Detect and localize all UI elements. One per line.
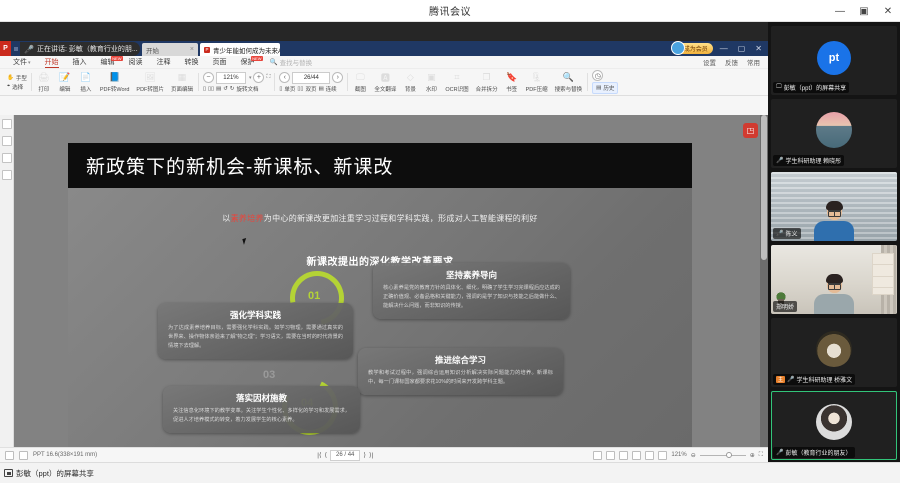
ocr-button[interactable]: ⌗ OCR识图 [444, 71, 469, 93]
dual-page-label[interactable]: 双页 [305, 85, 316, 93]
hand-tool-label: 手型 [16, 74, 27, 82]
menu-item-page[interactable]: 页面 [206, 57, 234, 67]
close-icon[interactable]: ✕ [876, 0, 900, 22]
background-icon: ◇ [404, 71, 417, 84]
document-viewport[interactable]: ◳ 新政策下的新机会-新课标、新课改 以素养培养为中心的新课改更加注重学习过程和… [0, 115, 768, 460]
menu-label: 开始 [45, 59, 59, 66]
mic-active-icon: 🎤 [776, 449, 783, 456]
subtitle-after: 为中心的新课改更加注重学习过程和学科实践，形成对人工智能课程的利好 [264, 214, 538, 223]
slide-card-04: 落实因材施教 关注信息化环境下的教学变革。关注学生个性化、多样化的学习和发展需求… [163, 386, 360, 433]
slide-subtitle: 以素养培养为中心的新课改更加注重学习过程和学科实践，形成对人工智能课程的利好 [68, 213, 692, 224]
edit-button[interactable]: 📝 编辑 [57, 71, 73, 93]
mic-icon: 🎤 [787, 376, 794, 383]
watermark-icon: ▣ [425, 71, 438, 84]
status-page-nav: |⟨ ⟨ 26 / 44 ⟩ ⟩| [317, 450, 373, 461]
history-group: ◷ ▤ 历史 [592, 70, 618, 94]
view-facing-icon[interactable] [606, 451, 615, 460]
screenshot-label: 截图 [355, 85, 366, 93]
head [827, 203, 842, 220]
history-label: 历史 [603, 84, 614, 92]
hair [826, 274, 843, 283]
shelf [872, 253, 894, 295]
wps-window: P 🎤 正在讲话: 彭敏（教育行业的朋... 开始 × P 青少年能如何成为未来… [0, 41, 768, 462]
meeting-bottom-bar: 彭敏（ppt）的屏幕共享 [0, 462, 900, 483]
participant-tile-5[interactable]: 🎤 彭敏（教育行业的朋友） [771, 391, 897, 460]
wps-maximize-icon[interactable]: ▢ [735, 44, 749, 53]
wps-minimize-icon[interactable]: — [717, 44, 731, 53]
document-info: PPT 16.6(338×191 mm) [33, 452, 97, 458]
card-body: 核心素养是党的教育方针的具体化、细化，明确了学生学习完课程后应达成的正确价值观、… [383, 284, 560, 311]
edit-page-icon: 📝 [58, 71, 71, 84]
background-label: 背景 [405, 85, 416, 93]
mic-muted-icon: 🎤 [776, 157, 783, 164]
toolbar-group-page: ‹ 26/44 › ▯ 单页 ▯▯ 双页 ▤ 连续 [275, 69, 347, 96]
compress-icon: 🗜 [530, 71, 543, 84]
participant-namebar: 🖵 彭敏（ppt）的屏幕共享 [773, 82, 849, 93]
card-title: 坚持素养导向 [383, 269, 560, 281]
page-layout-icon[interactable] [5, 451, 14, 460]
screen-share-icon: 🖵 [776, 84, 782, 91]
menu-label: 阅读 [129, 59, 143, 66]
step-number-01: 01 [308, 290, 320, 302]
watermark-button[interactable]: ▣ 水印 [423, 71, 439, 93]
ocr-label: OCR识图 [445, 85, 468, 93]
hair [826, 201, 843, 210]
view-tools-row: ▯ 单页 ▯▯ 双页 ▤ 连续 [279, 85, 343, 93]
avatar-initials: pt [829, 52, 839, 64]
participant-namebar: 主 🎤 学生科研助理 桥雅文 [773, 374, 855, 385]
menu-label: 页面 [213, 59, 227, 66]
select-tool-label: 选择 [12, 83, 23, 91]
wps-tabbar: P 🎤 正在讲话: 彭敏（教育行业的朋... 开始 × P 青少年能如何成为未来… [0, 41, 768, 56]
subtitle-before: 以 [222, 214, 230, 223]
menu-row-right: 设置 反馈 常用 [703, 57, 768, 67]
background-button[interactable]: ◇ 背景 [402, 71, 418, 93]
translate-label: 全文翻译 [374, 85, 396, 93]
pdf-to-image-icon: 🖼 [144, 71, 157, 84]
participant-namebar: 郑明娇 [773, 301, 797, 312]
prev-page-icon[interactable]: ⟨ [325, 451, 328, 459]
zoom-slider[interactable] [700, 455, 746, 456]
screenshot-button[interactable]: 🖵 截图 [352, 71, 368, 93]
view-thumbnail-icon[interactable] [645, 451, 654, 460]
bookmark-icon: 🔖 [505, 71, 518, 84]
avatar: pt [817, 41, 851, 75]
slide-card-02: 强化学科实践 为了达成素养培养目标，需要强化学科实践。如学习物理，需要通过真实的… [158, 303, 353, 359]
vertical-scroll-thumb[interactable] [761, 115, 767, 260]
menu-item-read[interactable]: 阅读 [122, 57, 150, 67]
compress-button[interactable]: 🗜 PDF压缩 [525, 71, 549, 93]
pin-icon[interactable]: ◳ [743, 123, 758, 138]
chevron-down-icon[interactable]: ▾ [249, 75, 252, 81]
view-single-icon[interactable] [593, 451, 602, 460]
print-label: 打印 [38, 85, 49, 93]
mic-muted-icon: 🎤 [776, 230, 783, 237]
participant-namebar: 🎤 陈义 [773, 228, 801, 239]
ocr-icon: ⌗ [450, 71, 463, 84]
insert-label: 插入 [80, 85, 91, 93]
menu-item-file[interactable]: 文件▾ [6, 57, 38, 67]
first-page-icon[interactable]: |⟨ [317, 451, 321, 459]
last-page-icon[interactable]: ⟩| [369, 451, 373, 459]
glasses-icon [828, 283, 841, 287]
continuous-page-icon[interactable]: ▤ [216, 86, 221, 92]
hand-icon: ✋ [7, 75, 14, 81]
compress-label: PDF压缩 [526, 85, 548, 93]
edit-label: 编辑 [59, 85, 70, 93]
rotate-right-icon[interactable]: ↻ [230, 86, 235, 92]
single-page-label[interactable]: 单页 [284, 85, 295, 93]
pdf-to-image-label: PDF转图片 [136, 85, 164, 93]
participant-tile-2[interactable]: 🎤 陈义 [771, 172, 897, 241]
slide-title: 新政策下的新机会-新课标、新课改 [86, 152, 393, 179]
page-and-view: ‹ 26/44 › ▯ 单页 ▯▯ 双页 ▤ 连续 [279, 72, 343, 93]
view-fitwidth-icon[interactable] [632, 451, 641, 460]
close-tab-icon[interactable]: × [190, 46, 194, 53]
favorites-link[interactable]: 常用 [747, 57, 760, 67]
merge-split-label: 合并拆分 [476, 85, 498, 93]
bookmarks-panel-icon[interactable] [2, 136, 12, 146]
feedback-link[interactable]: 反馈 [725, 57, 738, 67]
view-continuous-icon[interactable] [619, 451, 628, 460]
menu-search-box[interactable]: 🔍 查找与替换 [270, 57, 313, 67]
mouse-cursor [242, 237, 250, 245]
avatar [816, 404, 852, 440]
toolbar-group-history: ◷ ▤ 历史 [588, 69, 622, 96]
slide-card-01: 坚持素养导向 核心素养是党的教育方针的具体化、细化，明确了学生学习完课程后应达成… [373, 263, 570, 319]
screen-root: 腾讯会议 — ▣ ✕ P 🎤 正在讲话: 彭敏（教育行业的朋... 开始 × [0, 0, 900, 483]
participant-sidebar: pt 🖵 彭敏（ppt）的屏幕共享 🎤 学生科研助理 赖晓彤 [768, 22, 900, 462]
host-badge: 主 [776, 376, 785, 383]
card-body: 为了达成素养培养目标，需要强化学科实践。如学习物理，需要通过真实的世界来、操作物… [168, 324, 343, 351]
next-page-icon[interactable]: ⟩ [363, 451, 366, 459]
wps-tabbar-right: 成为会员 — ▢ ✕ [674, 41, 768, 56]
dual-page-icon[interactable]: ▯▯ [297, 86, 303, 92]
page-field[interactable]: 26/44 [292, 72, 330, 84]
card-title: 推进综合学习 [368, 354, 553, 366]
merge-split-icon: ❐ [480, 71, 493, 84]
current-page-indicator[interactable]: 26 / 44 [330, 450, 360, 461]
next-page-icon[interactable]: › [332, 72, 343, 83]
torso [814, 221, 854, 241]
vertical-scrollbar[interactable] [760, 115, 768, 460]
avatar [816, 331, 852, 367]
torso [814, 294, 854, 314]
outline-panel-icon[interactable] [2, 153, 12, 163]
toolbar-group-main: 🖨 打印 📝 编辑 📄 插入 📘 PDF转Word [32, 69, 198, 96]
annotations-panel-icon[interactable] [2, 170, 12, 180]
card-title: 强化学科实践 [168, 309, 343, 321]
print-button[interactable]: 🖨 打印 [36, 71, 52, 93]
menu-label: 注释 [157, 59, 171, 66]
pdf-to-word-icon: 📘 [108, 71, 121, 84]
speaking-indicator-chip: 🎤 正在讲话: 彭敏（教育行业的朋... [20, 42, 140, 56]
translate-icon: 🅰 [379, 71, 392, 84]
printer-icon: 🖨 [37, 71, 50, 84]
wps-toolbar: ✋ 手型 ⌖ 选择 🖨 打印 [0, 69, 768, 96]
search-icon: 🔍 [270, 58, 278, 66]
mic-icon: 🎤 [24, 45, 34, 54]
menu-label: 转换 [185, 59, 199, 66]
rotate-doc-label[interactable]: 旋转文档 [236, 85, 258, 93]
wps-tab-label: 青少年能如何成为未来AI主... [213, 45, 280, 55]
wps-tab-0[interactable]: 开始 × [142, 43, 198, 56]
settings-link[interactable]: 设置 [703, 57, 716, 67]
clock-icon: ◷ [592, 70, 603, 81]
viewer-side-rail [0, 115, 14, 460]
mode-toggles: ✋ 手型 ⌖ 选择 [7, 74, 27, 91]
zoom-out-icon[interactable]: ⊖ [691, 452, 696, 459]
wps-status-bar: PPT 16.6(338×191 mm) |⟨ ⟨ 26 / 44 ⟩ ⟩| [0, 447, 768, 462]
wps-menu-row: 文件▾ 开始 插入 编辑NEW 阅读 注释 转换 页面 保护NEW 🔍 查找与替… [0, 56, 768, 69]
slide-header: 新政策下的新机会-新课标、新课改 [68, 143, 692, 188]
shared-screen-area: P 🎤 正在讲话: 彭敏（教育行业的朋... 开始 × P 青少年能如何成为未来… [0, 22, 768, 462]
search-replace-button[interactable]: 🔍 搜索与替换 [554, 71, 584, 93]
participant-tile-0[interactable]: pt 🖵 彭敏（ppt）的屏幕共享 [771, 26, 897, 95]
participant-name: 学生科研助理 桥雅文 [797, 375, 853, 384]
wps-close-icon[interactable]: ✕ [752, 44, 765, 53]
fit-page-icon[interactable]: ⛶ [266, 74, 270, 81]
cursor-select-icon: ⌖ [7, 83, 10, 90]
menu-item-annotate[interactable]: 注释 [150, 57, 178, 67]
toolbar-group-mode: ✋ 手型 ⌖ 选择 [3, 69, 31, 96]
single-page-icon[interactable]: ▯ [279, 86, 282, 92]
watermark-label: 水印 [426, 85, 437, 93]
participant-name: 彭敏（ppt）的屏幕共享 [784, 83, 846, 92]
speaking-label: 正在讲话: 彭敏（教育行业的朋... [37, 44, 138, 54]
page-edit-label: 页面编辑 [171, 85, 193, 93]
slide-card-03: 推进综合学习 教学和考试过程中，强调综合运用知识分析解决实际问题能力的培养。新课… [358, 348, 563, 395]
card-body: 教学和考试过程中，强调综合运用知识分析解决实际问题能力的培养。新课标中，每一门课… [368, 369, 553, 387]
chevron-down-icon: ▾ [28, 60, 31, 66]
hand-tool[interactable]: ✋ 手型 [7, 74, 27, 82]
menu-search-placeholder: 查找与替换 [280, 57, 313, 67]
zoom-in-icon[interactable]: + [253, 72, 264, 83]
become-member-button[interactable]: 成为会员 [674, 43, 713, 54]
zoom-out-icon[interactable]: − [203, 72, 214, 83]
zoom-slider-thumb[interactable] [726, 452, 732, 458]
zoom-row: − 121% ▾ + ⛶ [203, 72, 270, 84]
card-title: 落实因材施教 [173, 392, 350, 404]
glasses-icon [828, 210, 841, 214]
maximize-icon[interactable]: ▣ [852, 0, 876, 22]
pdf-file-icon: P [204, 47, 210, 53]
history-icon: ▤ [596, 85, 601, 91]
pdf-to-word-label: PDF转Word [100, 85, 130, 93]
pdf-to-word-button[interactable]: 📘 PDF转Word [99, 71, 131, 93]
menu-item-edit[interactable]: 编辑NEW [94, 57, 122, 67]
view-mode-row: ▯ ▯▯ ▤ ↺ ↻ 旋转文档 [203, 85, 270, 93]
page-nav-group: |⟨ ⟨ 26 / 44 ⟩ ⟩| [317, 450, 373, 461]
thumbnails-icon[interactable] [2, 119, 12, 129]
menu-label: 文件 [13, 59, 27, 66]
minimize-icon[interactable]: — [828, 0, 852, 22]
merge-split-button[interactable]: ❐ 合并拆分 [475, 71, 499, 93]
page-navigation: ‹ 26/44 › [279, 72, 343, 84]
continuous-page-label[interactable]: 连续 [326, 85, 337, 93]
zoom-value[interactable]: 121% [216, 72, 246, 84]
page-edit-icon: ▦ [175, 71, 188, 84]
participant-tile-1[interactable]: 🎤 学生科研助理 赖晓彤 [771, 99, 897, 168]
participant-name: 学生科研助理 赖晓彤 [785, 156, 841, 165]
participant-name: 陈义 [785, 229, 797, 238]
pdf-to-image-button[interactable]: 🖼 PDF转图片 [135, 71, 165, 93]
head [827, 276, 842, 293]
history-button[interactable]: ▤ 历史 [592, 82, 618, 94]
prev-page-icon[interactable]: ‹ [279, 72, 290, 83]
rotate-left-icon[interactable]: ↺ [223, 86, 228, 92]
meeting-titlebar: 腾讯会议 — ▣ ✕ [0, 0, 900, 22]
zoom-and-view: − 121% ▾ + ⛶ ▯ ▯▯ ▤ ↺ ↻ 旋转文档 [203, 72, 270, 93]
become-member-label: 成为会员 [684, 44, 708, 53]
insert-page-icon: 📄 [79, 71, 92, 84]
menu-label: 插入 [73, 59, 87, 66]
status-zoom-value[interactable]: 121% [671, 452, 686, 458]
search-replace-label: 搜索与替换 [555, 85, 583, 93]
participant-tile-3[interactable]: 郑明娇 [771, 245, 897, 314]
single-page-icon[interactable]: ▯ [203, 86, 206, 92]
select-tool[interactable]: ⌖ 选择 [7, 83, 27, 91]
screen-share-label: 彭敏（ppt）的屏幕共享 [16, 468, 94, 479]
step-number-03: 03 [263, 369, 275, 381]
toolbar-group-tools: 🖵 截图 🅰 全文翻译 ◇ 背景 ▣ 水印 [348, 69, 587, 96]
continuous-page-icon[interactable]: ▤ [318, 86, 323, 92]
window-controls: — ▣ ✕ [828, 0, 900, 22]
screen-share-icon [4, 469, 13, 477]
insert-button[interactable]: 📄 插入 [78, 71, 94, 93]
person-silhouette [814, 276, 854, 314]
wps-tab-label: 开始 [146, 45, 159, 55]
screen-share-status: 彭敏（ppt）的屏幕共享 [4, 468, 94, 479]
dual-page-icon[interactable]: ▯▯ [208, 86, 214, 92]
participant-tile-4[interactable]: 主 🎤 学生科研助理 桥雅文 [771, 318, 897, 387]
history-clock[interactable]: ◷ [592, 70, 618, 81]
card-body: 关注信息化环境下的教学变革。关注学生个性化、多样化的学习和发展需求，促进人才培养… [173, 407, 350, 425]
participant-name: 彭敏（教育行业的朋友） [785, 448, 851, 457]
translate-button[interactable]: 🅰 全文翻译 [373, 71, 397, 93]
menu-item-convert[interactable]: 转换 [178, 57, 206, 67]
screenshot-icon: 🖵 [354, 71, 367, 84]
avatar [816, 112, 852, 148]
meeting-window-title: 腾讯会议 [429, 3, 471, 18]
participant-namebar: 🎤 彭敏（教育行业的朋友） [773, 447, 855, 458]
person-silhouette [814, 203, 854, 241]
menu-item-start[interactable]: 开始 [38, 57, 66, 67]
menu-item-insert[interactable]: 插入 [66, 57, 94, 67]
menu-item-protect[interactable]: 保护NEW [234, 57, 262, 67]
fullscreen-icon[interactable]: ⛶ [759, 452, 763, 459]
wps-menu-dot-icon[interactable] [11, 41, 20, 56]
toolbar-group-zoom: − 121% ▾ + ⛶ ▯ ▯▯ ▤ ↺ ↻ 旋转文档 [199, 69, 274, 96]
zoom-in-icon[interactable]: ⊕ [750, 452, 755, 459]
participant-name: 郑明娇 [776, 302, 794, 311]
status-right-tools: 121% ⊖ ⊕ ⛶ [593, 451, 763, 460]
bookmark-button[interactable]: 🔖 书签 [504, 71, 520, 93]
view-reflow-icon[interactable] [658, 451, 667, 460]
page-edit-button[interactable]: ▦ 页面编辑 [170, 71, 194, 93]
page-fit-icon[interactable] [19, 451, 28, 460]
participant-namebar: 🎤 学生科研助理 赖晓彤 [773, 155, 844, 166]
wps-tab-1[interactable]: P 青少年能如何成为未来AI主... × [200, 43, 280, 56]
new-badge: NEW [251, 56, 262, 61]
user-avatar [671, 41, 685, 55]
wps-logo-icon: P [0, 41, 11, 56]
pdf-slide-page: 新政策下的新机会-新课标、新课改 以素养培养为中心的新课改更加注重学习过程和学科… [68, 143, 692, 460]
search-replace-icon: 🔍 [562, 71, 575, 84]
subtitle-highlight: 素养培养 [231, 214, 264, 223]
bookmark-label: 书签 [506, 85, 517, 93]
